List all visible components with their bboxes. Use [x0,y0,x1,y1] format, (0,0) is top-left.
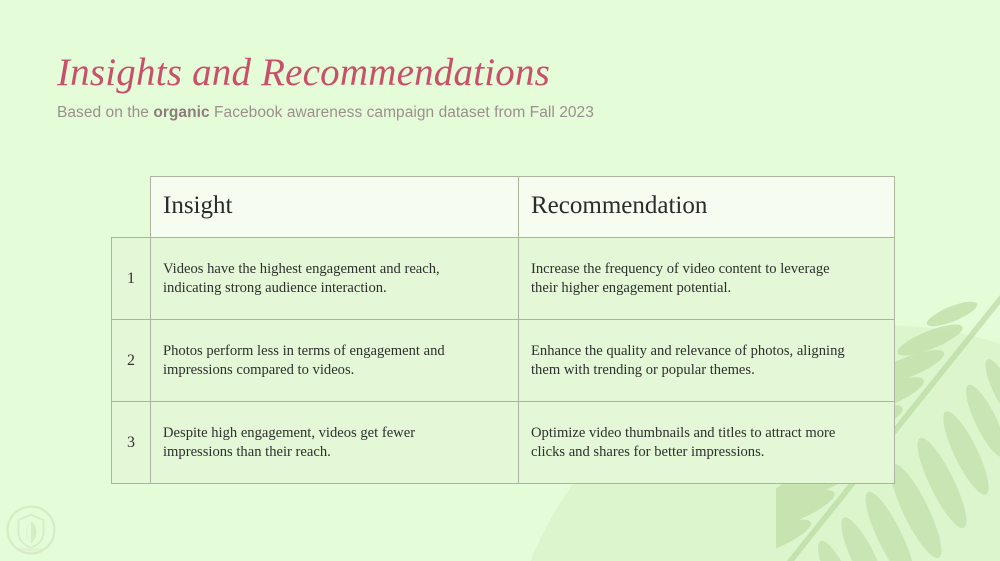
table-header: Insight Recommendation [112,177,895,238]
brand-logo-watermark [4,503,58,557]
row-recommendation-line: Optimize video thumbnails and titles to … [531,424,880,443]
table-header-insight: Insight [151,177,519,238]
row-recommendation-line: their higher engagement potential. [531,279,880,298]
row-insight-line: impressions compared to videos. [163,361,504,380]
table-row: 1 Videos have the highest engagement and… [112,238,895,320]
row-recommendation: Enhance the quality and relevance of pho… [519,320,895,402]
subtitle-text-before: Based on the [57,104,153,121]
subtitle-emphasis: organic [153,104,209,121]
table-header-row: Insight Recommendation [112,177,895,238]
row-number: 3 [112,402,151,484]
table-header-number-blank [112,177,151,238]
table-header-recommendation: Recommendation [519,177,895,238]
row-insight-line: Despite high engagement, videos get fewe… [163,424,504,443]
page-subtitle: Based on the organic Facebook awareness … [57,103,877,123]
table-row: 3 Despite high engagement, videos get fe… [112,402,895,484]
row-insight-line: Photos perform less in terms of engageme… [163,342,504,361]
row-number: 1 [112,238,151,320]
table-row: 2 Photos perform less in terms of engage… [112,320,895,402]
page-title: Insights and Recommendations [57,50,877,96]
table-body: 1 Videos have the highest engagement and… [112,238,895,484]
row-recommendation-line: clicks and shares for better impressions… [531,443,880,462]
row-insight-line: indicating strong audience interaction. [163,279,504,298]
slide-canvas: Insights and Recommendations Based on th… [0,0,1000,561]
row-recommendation: Increase the frequency of video content … [519,238,895,320]
row-recommendation-line: Enhance the quality and relevance of pho… [531,342,880,361]
row-number: 2 [112,320,151,402]
row-recommendation-line: Increase the frequency of video content … [531,260,880,279]
insights-table-container: Insight Recommendation 1 Videos have the… [111,176,894,484]
insights-recommendations-table: Insight Recommendation 1 Videos have the… [111,176,895,484]
subtitle-text-after: Facebook awareness campaign dataset from… [210,104,594,121]
row-recommendation: Optimize video thumbnails and titles to … [519,402,895,484]
row-insight-line: impressions than their reach. [163,443,504,462]
row-insight: Despite high engagement, videos get fewe… [151,402,519,484]
row-insight-line: Videos have the highest engagement and r… [163,260,504,279]
row-insight: Videos have the highest engagement and r… [151,238,519,320]
row-insight: Photos perform less in terms of engageme… [151,320,519,402]
row-recommendation-line: them with trending or popular themes. [531,361,880,380]
slide-header: Insights and Recommendations Based on th… [57,50,877,123]
